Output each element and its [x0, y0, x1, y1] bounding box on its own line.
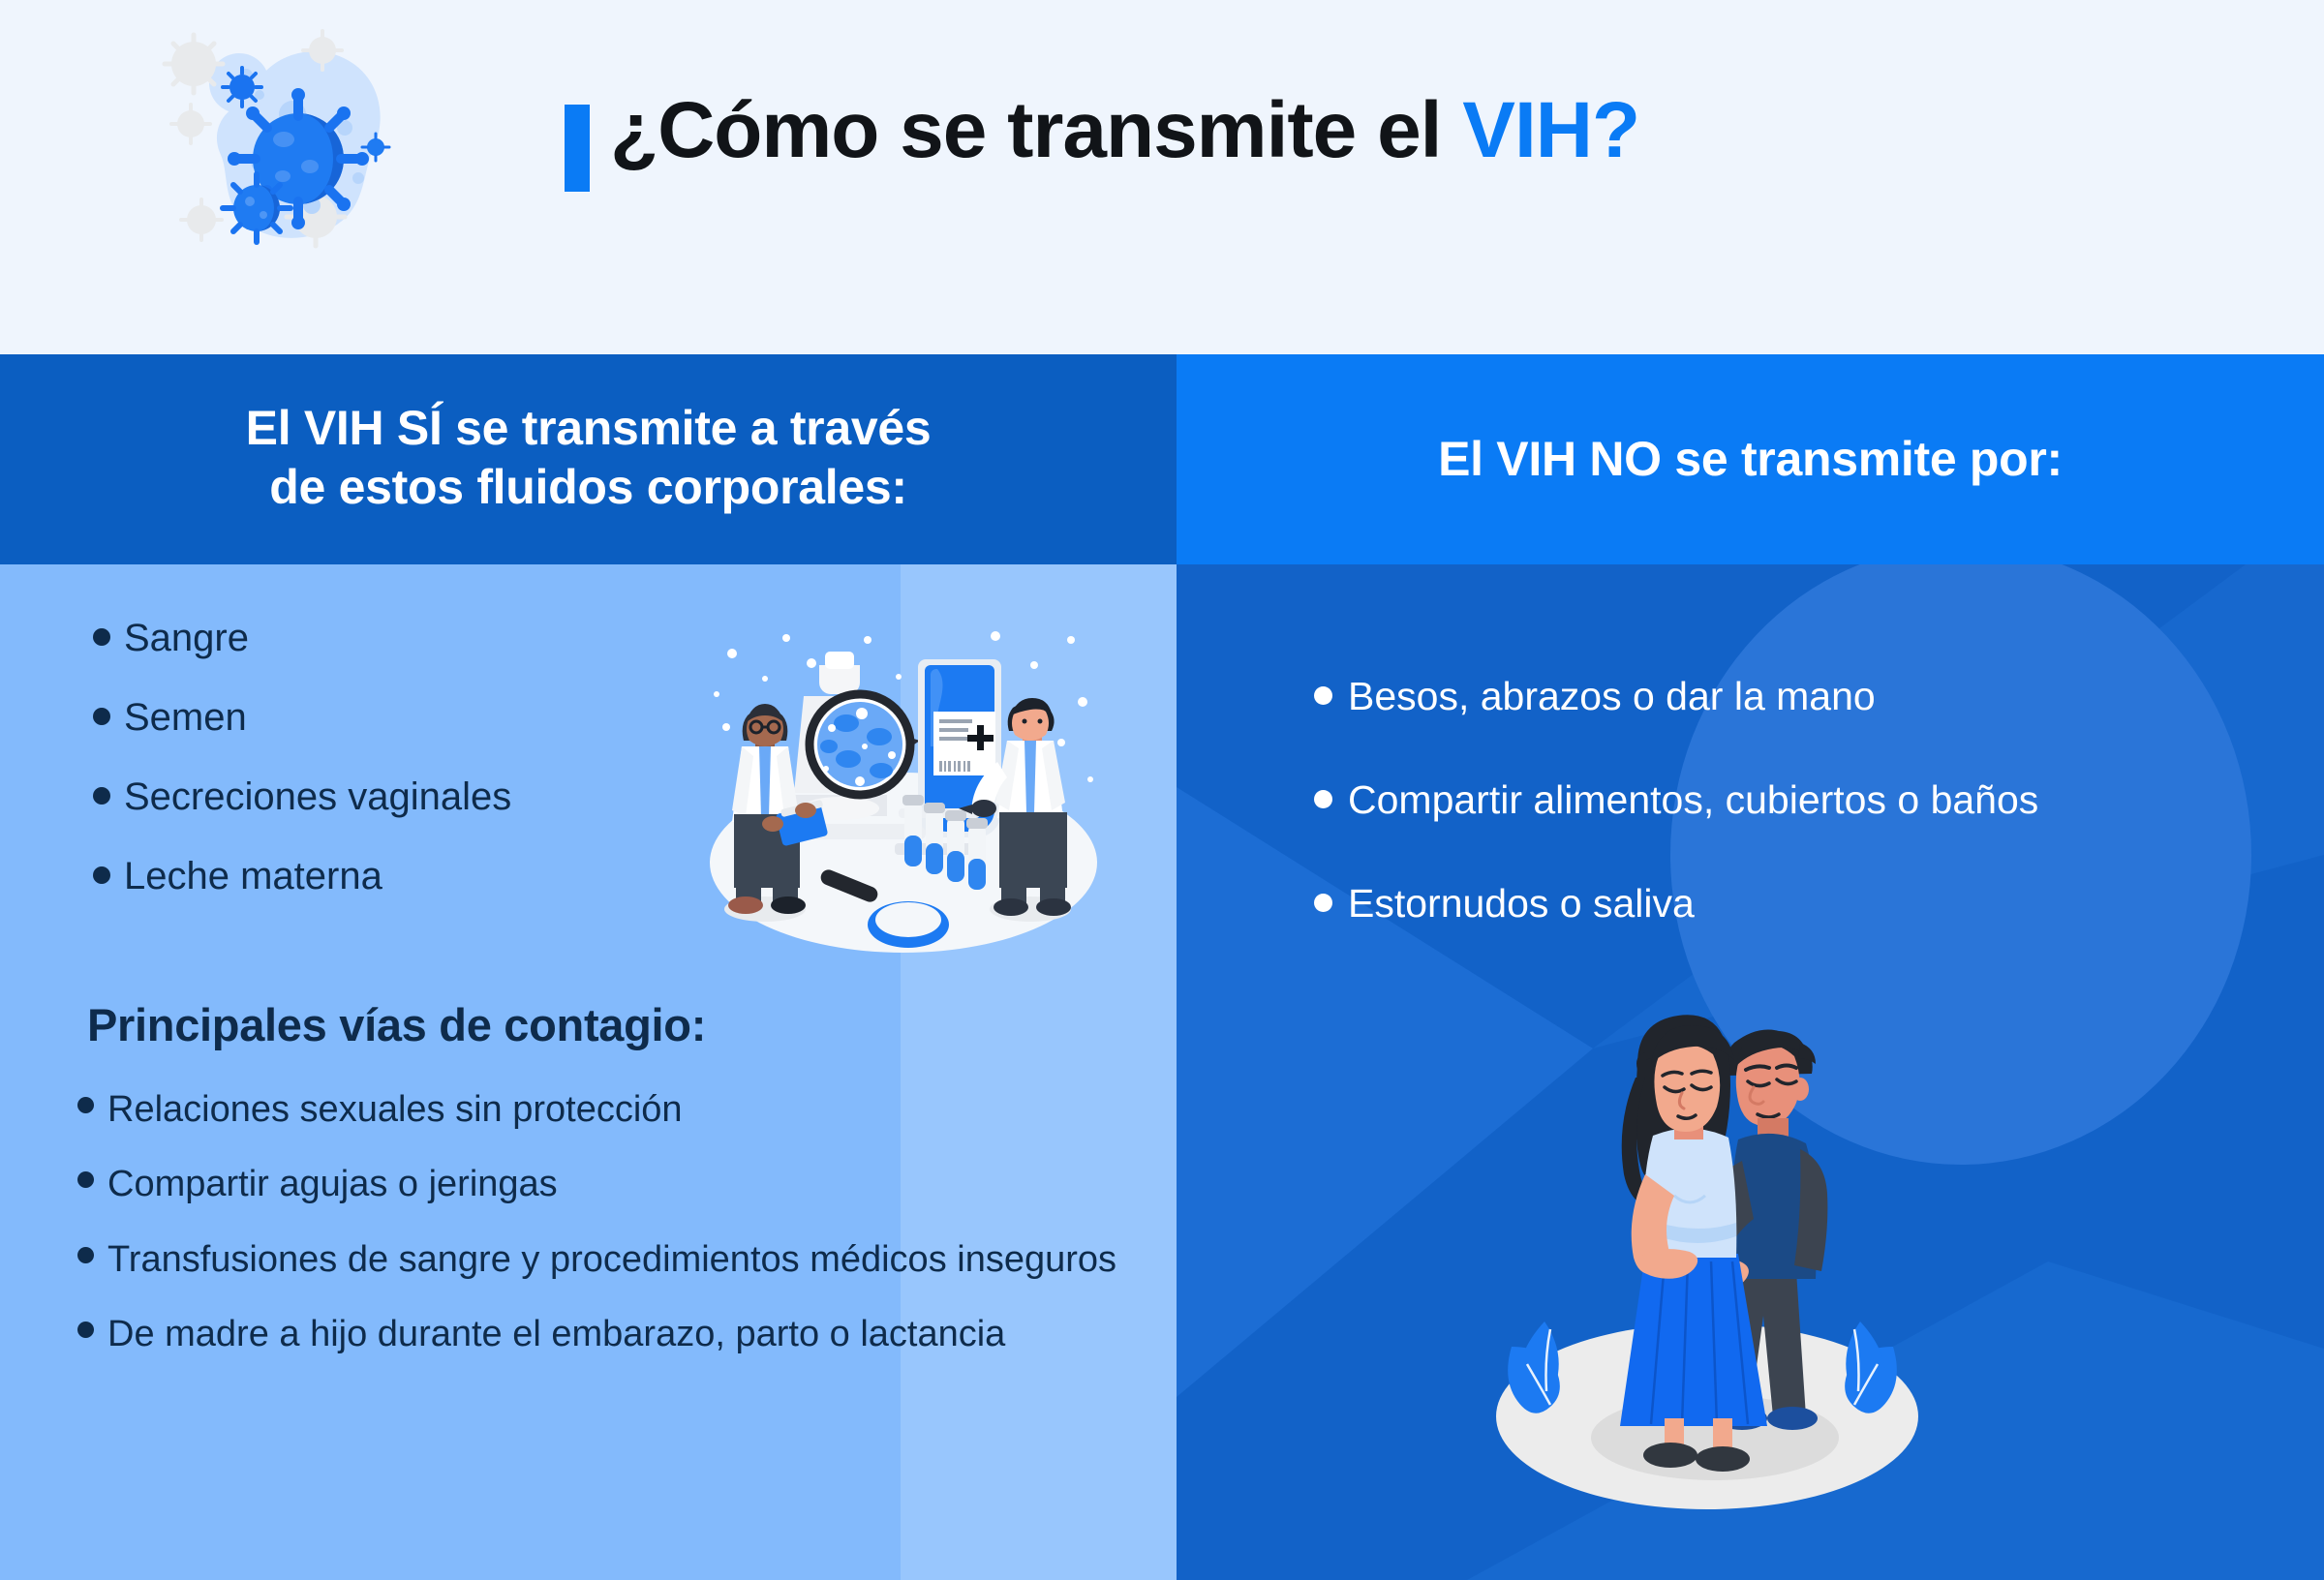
left-section-title-line2: de estos fluidos corporales:	[246, 458, 932, 517]
hiv-virus-cluster-icon	[145, 12, 416, 254]
left-panel: Sangre Semen Secreciones vaginales Leche…	[0, 564, 1177, 1580]
bullet-dot-icon	[1314, 686, 1332, 705]
right-section-title: El VIH NO se transmite por:	[1438, 430, 2063, 489]
list-item-label: Semen	[124, 694, 247, 741]
section-headers-band: El VIH SÍ se transmite a través de estos…	[0, 354, 2324, 564]
right-panel: Besos, abrazos o dar la mano Compartir a…	[1177, 564, 2324, 1580]
bullet-dot-icon	[93, 628, 110, 646]
list-item-label: Estornudos o saliva	[1348, 880, 1695, 927]
bullet-dot-icon	[77, 1247, 94, 1263]
bullet-dot-icon	[77, 1322, 94, 1338]
body-fluids-list: Sangre Semen Secreciones vaginales Leche…	[93, 615, 693, 932]
left-section-header: El VIH SÍ se transmite a través de estos…	[0, 354, 1177, 564]
list-item: Semen	[93, 694, 693, 741]
list-item-label: Compartir agujas o jeringas	[107, 1160, 558, 1209]
embracing-couple-icon	[1455, 981, 1959, 1523]
transmission-routes-list: Relaciones sexuales sin protección Compa…	[77, 1085, 1152, 1384]
bullet-dot-icon	[1314, 894, 1332, 912]
list-item: Relaciones sexuales sin protección	[77, 1085, 1152, 1135]
list-item: Transfusiones de sangre y procedimientos…	[77, 1235, 1152, 1285]
list-item-label: Secreciones vaginales	[124, 774, 511, 820]
right-section-header: El VIH NO se transmite por:	[1177, 354, 2324, 564]
bullet-dot-icon	[1314, 790, 1332, 808]
routes-title: Principales vías de contagio:	[87, 998, 706, 1051]
page-title: ¿Cómo se transmite el VIH?	[610, 85, 1639, 176]
list-item: Estornudos o saliva	[1314, 880, 2282, 927]
list-item: Sangre	[93, 615, 693, 661]
bullet-dot-icon	[93, 708, 110, 725]
title-accent-bar	[565, 105, 590, 192]
bullet-dot-icon	[77, 1171, 94, 1188]
non-transmission-list: Besos, abrazos o dar la mano Compartir a…	[1314, 673, 2282, 985]
left-section-title: El VIH SÍ se transmite a través de estos…	[246, 399, 932, 517]
bullet-dot-icon	[77, 1097, 94, 1113]
infographic-page: ¿Cómo se transmite el VIH? El VIH SÍ se …	[0, 0, 2324, 1580]
bullet-dot-icon	[93, 787, 110, 805]
list-item-label: Relaciones sexuales sin protección	[107, 1085, 683, 1135]
page-title-highlight: VIH?	[1462, 86, 1639, 174]
bullet-dot-icon	[93, 866, 110, 884]
list-item-label: De madre a hijo durante el embarazo, par…	[107, 1310, 1005, 1359]
page-header: ¿Cómo se transmite el VIH?	[0, 0, 2324, 354]
left-section-title-line1: El VIH SÍ se transmite a través	[246, 399, 932, 458]
list-item: Besos, abrazos o dar la mano	[1314, 673, 2282, 720]
list-item: De madre a hijo durante el embarazo, par…	[77, 1310, 1152, 1359]
page-title-prefix: ¿Cómo se transmite el	[610, 86, 1462, 174]
lab-blood-test-icon	[705, 619, 1102, 957]
list-item-label: Compartir alimentos, cubiertos o baños	[1348, 776, 2038, 824]
list-item-label: Transfusiones de sangre y procedimientos…	[107, 1235, 1116, 1285]
list-item: Compartir alimentos, cubiertos o baños	[1314, 776, 2282, 824]
list-item: Leche materna	[93, 853, 693, 899]
list-item-label: Sangre	[124, 615, 249, 661]
list-item: Compartir agujas o jeringas	[77, 1160, 1152, 1209]
list-item-label: Besos, abrazos o dar la mano	[1348, 673, 1876, 720]
list-item: Secreciones vaginales	[93, 774, 693, 820]
list-item-label: Leche materna	[124, 853, 382, 899]
